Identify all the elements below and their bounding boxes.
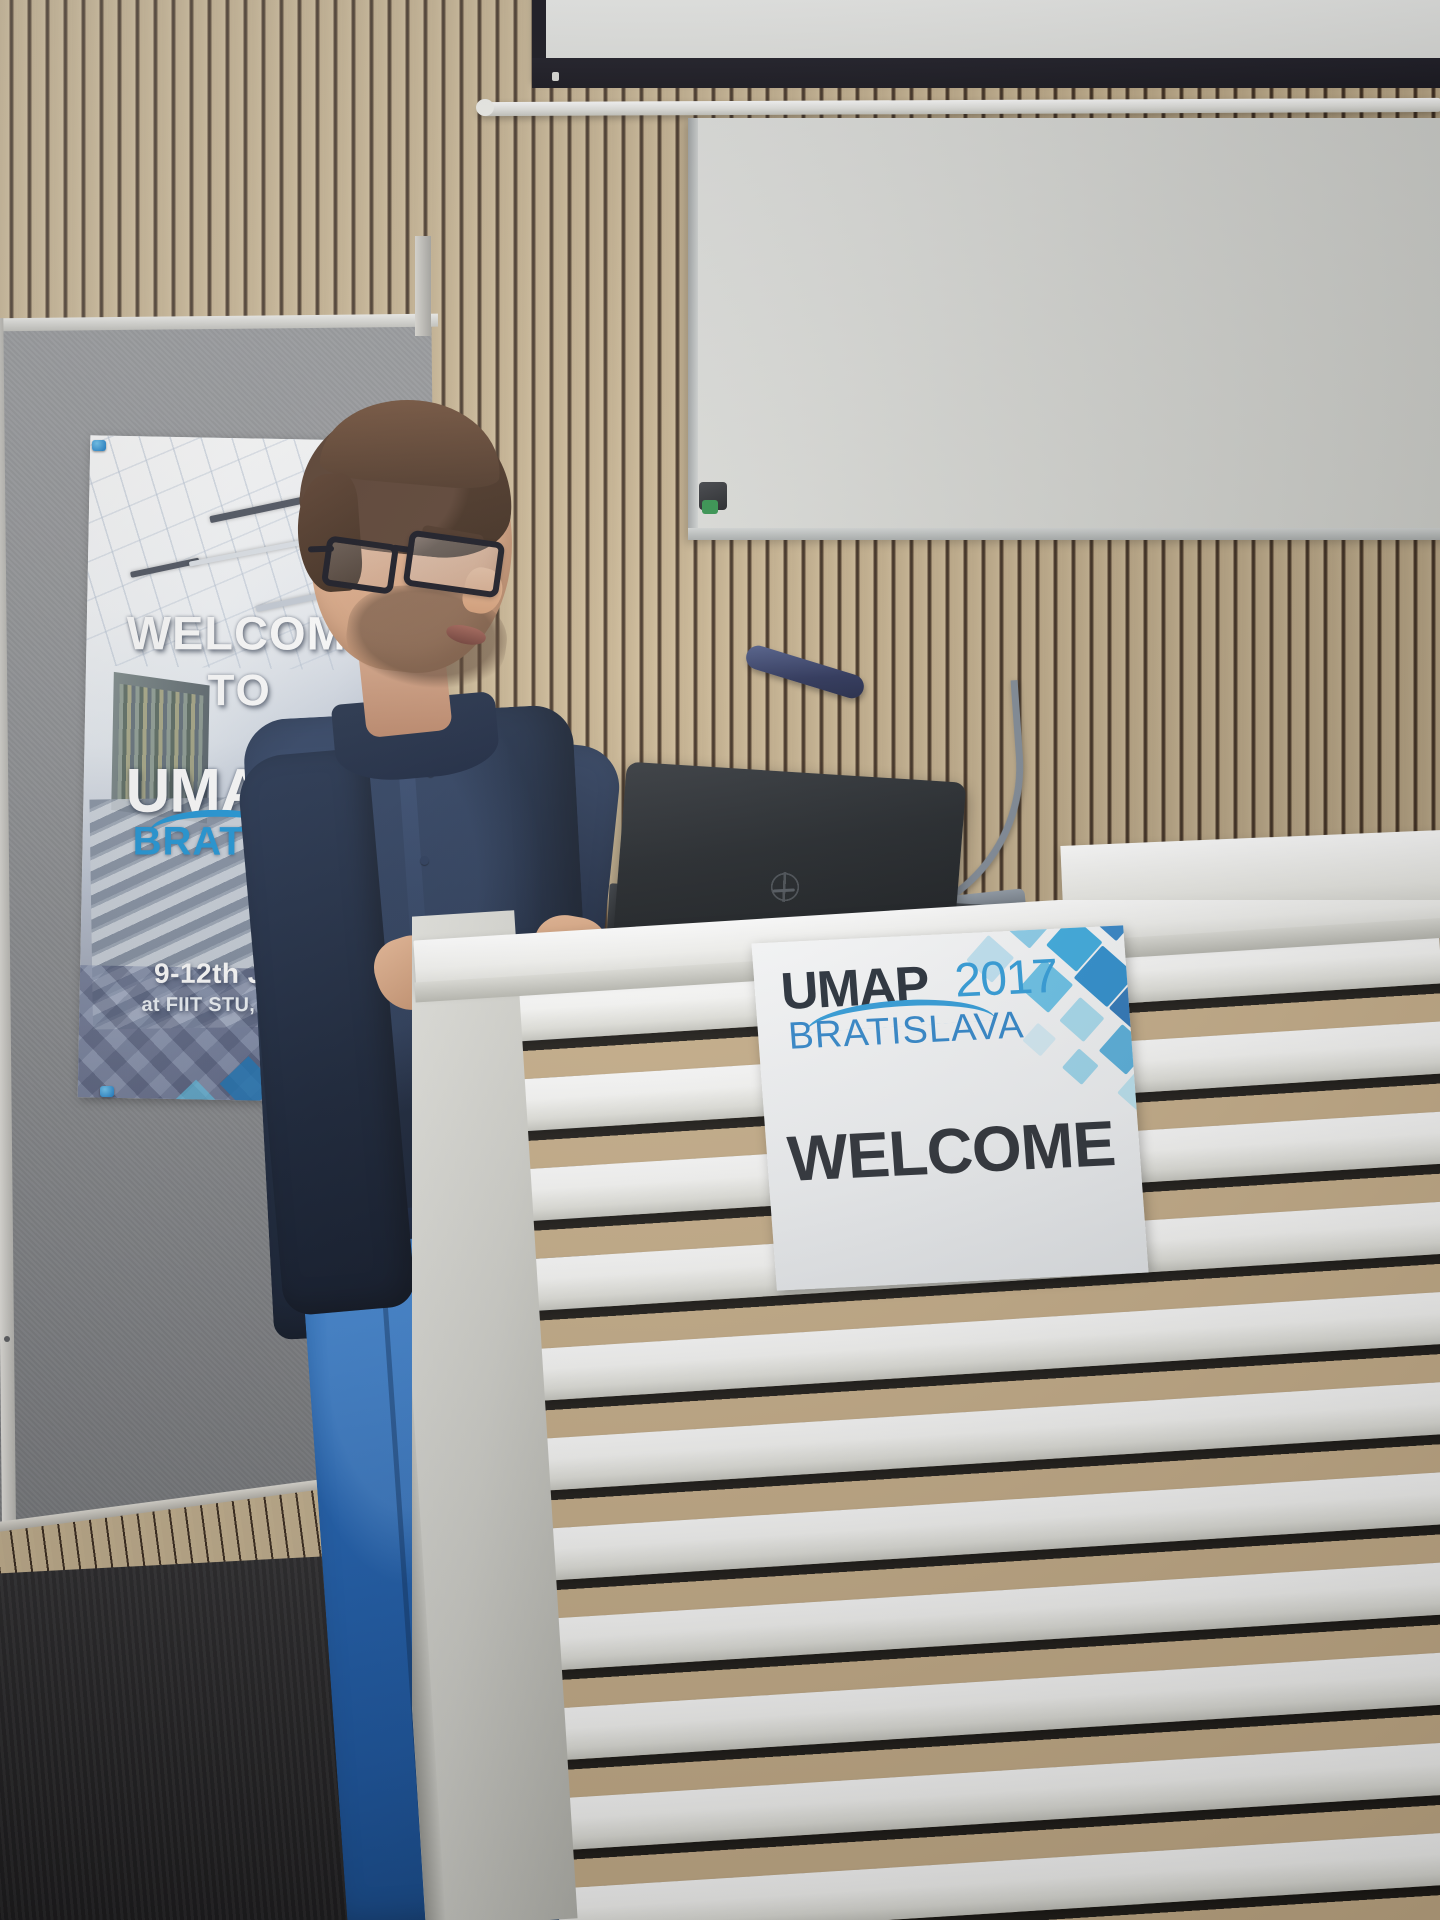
photo-vignette	[0, 0, 1440, 1920]
conference-photo-scene: WELCOME TO UMAP BRATIS 9-12th Ju at FIIT…	[0, 0, 1440, 1920]
